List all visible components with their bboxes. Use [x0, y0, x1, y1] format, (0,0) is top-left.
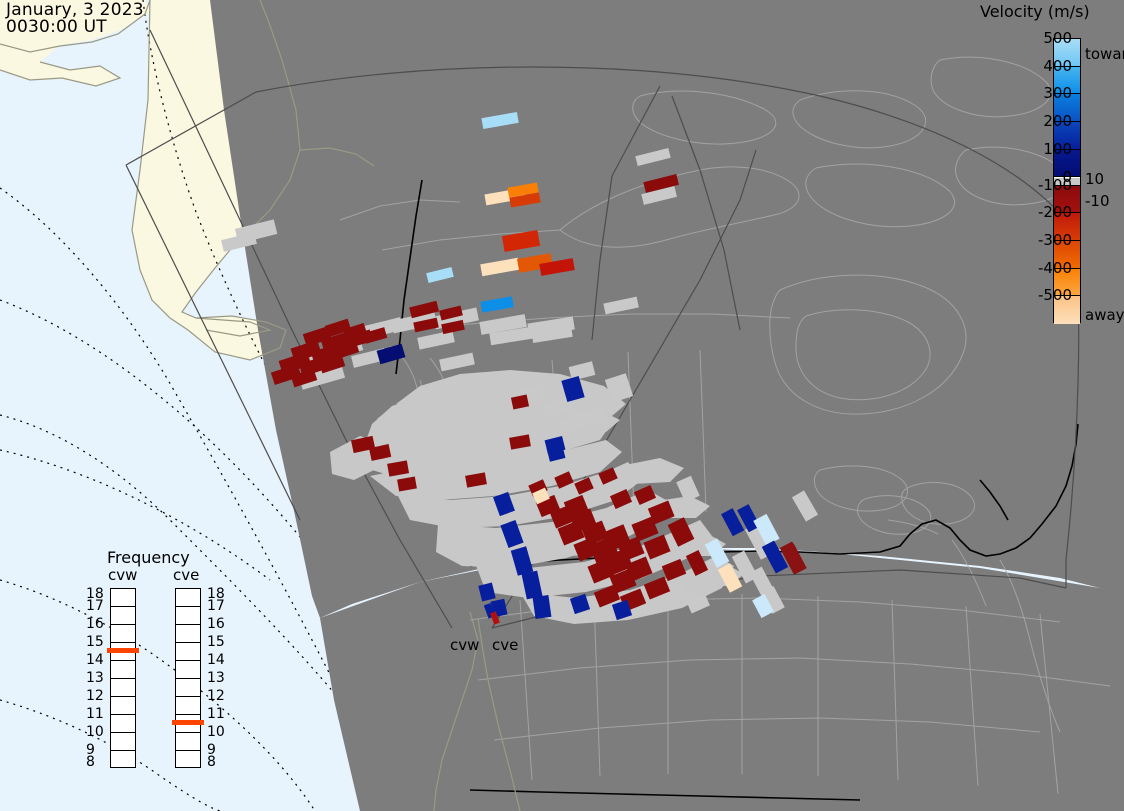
velocity-inner-positive-label: 10 [1085, 170, 1104, 188]
frequency-segment [176, 643, 200, 661]
frequency-tick-cve-11: 11 [207, 706, 225, 722]
frequency-segment [176, 751, 200, 769]
velocity-inner-negative-label: -10 [1085, 192, 1110, 210]
frequency-tick-cvw-12: 12 [86, 688, 104, 704]
frequency-tick-cvw-10: 10 [86, 724, 104, 740]
frequency-column-label-cvw: cvw [108, 566, 137, 584]
velocity-tick-500: 500 [1043, 29, 1072, 47]
frequency-tick-cve-16: 16 [207, 616, 225, 632]
velocity-away-label: away [1085, 306, 1124, 324]
frequency-tick-cvw-15: 15 [86, 634, 104, 650]
frequency-tick-cvw-13: 13 [86, 670, 104, 686]
frequency-bar-cvw [110, 588, 136, 768]
frequency-tick-cvw-14: 14 [86, 652, 104, 668]
frequency-segment [176, 589, 200, 607]
frequency-tick-cve-13: 13 [207, 670, 225, 686]
velocity-tick-300: 300 [1043, 84, 1072, 102]
frequency-tick-cvw-17: 17 [86, 598, 104, 614]
frequency-bar-cve [175, 588, 201, 768]
frequency-segment [111, 733, 135, 751]
frequency-segment [111, 697, 135, 715]
velocity-tick--200: -200 [1038, 203, 1072, 221]
frequency-segment [111, 751, 135, 769]
frequency-segment [176, 607, 200, 625]
frequency-segment [176, 679, 200, 697]
frequency-tick-cvw-16: 16 [86, 616, 104, 632]
frequency-segment [176, 661, 200, 679]
frequency-tick-cve-14: 14 [207, 652, 225, 668]
radar-velocity-map: January, 3 2023 0030:00 UT Velocity (m/s… [0, 0, 1124, 811]
frequency-tick-cvw-8: 8 [86, 754, 95, 770]
frequency-marker-cve [172, 720, 204, 725]
velocity-tick-100: 100 [1043, 140, 1072, 158]
frequency-tick-cve-17: 17 [207, 598, 225, 614]
velocity-tick--300: -300 [1038, 231, 1072, 249]
frequency-segment [111, 715, 135, 733]
frequency-tick-cvw-11: 11 [86, 706, 104, 722]
frequency-tick-cve-15: 15 [207, 634, 225, 650]
radar-site-label-cve: cve [492, 636, 518, 654]
velocity-legend-title: Velocity (m/s) [980, 2, 1124, 21]
frequency-segment [176, 625, 200, 643]
velocity-tick--100: -100 [1038, 176, 1072, 194]
velocity-legend: Velocity (m/s) 5004003002001000-100-200-… [975, 0, 1124, 340]
frequency-segment [111, 589, 135, 607]
timestamp: January, 3 2023 0030:00 UT [6, 2, 144, 36]
velocity-tick-200: 200 [1043, 112, 1072, 130]
frequency-segment [176, 733, 200, 751]
frequency-segment [111, 607, 135, 625]
frequency-legend-title: Frequency [107, 548, 190, 567]
frequency-segment [111, 679, 135, 697]
frequency-tick-cve-10: 10 [207, 724, 225, 740]
frequency-tick-cve-8: 8 [207, 754, 216, 770]
frequency-column-label-cve: cve [173, 566, 199, 584]
timestamp-time: 0030:00 UT [6, 19, 144, 36]
frequency-legend: Frequency cvw18171615141312111098cve1817… [85, 548, 245, 783]
radar-site-label-cvw: cvw [450, 636, 479, 654]
frequency-segment [176, 697, 200, 715]
frequency-segment [111, 661, 135, 679]
velocity-tick-400: 400 [1043, 57, 1072, 75]
velocity-tick--500: -500 [1038, 286, 1072, 304]
velocity-toward-label: toward [1085, 45, 1124, 63]
frequency-segment [111, 625, 135, 643]
velocity-tick--400: -400 [1038, 259, 1072, 277]
frequency-marker-cvw [107, 648, 139, 653]
frequency-tick-cve-12: 12 [207, 688, 225, 704]
